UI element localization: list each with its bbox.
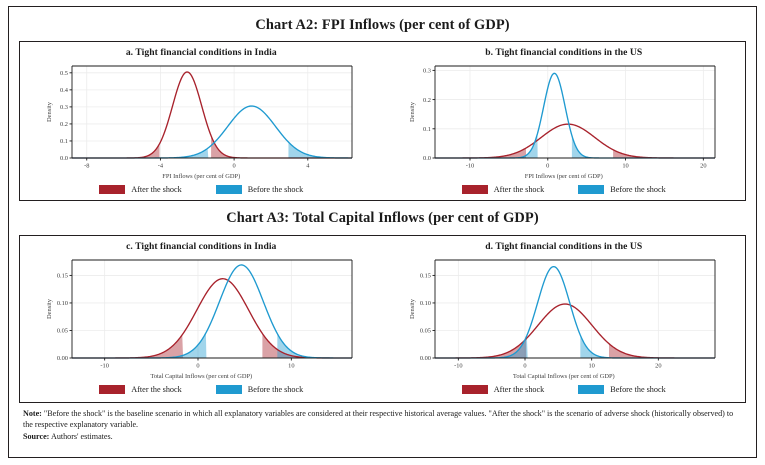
svg-text:0.1: 0.1: [60, 138, 68, 145]
legend-label-after: After the shock: [131, 385, 181, 394]
legend-swatch-after-icon: [462, 185, 488, 194]
legend-swatch-before-icon: [216, 385, 242, 394]
legend-b: After the shock Before the shock: [383, 185, 746, 194]
legend-item-after-c: After the shock: [99, 385, 181, 394]
subplot-d-title: d. Tight financial conditions in the US: [383, 241, 746, 252]
svg-text:0.00: 0.00: [420, 355, 431, 362]
subplot-a: a. Tight financial conditions in India 0…: [20, 42, 383, 200]
panel-chart-a3: c. Tight financial conditions in India 0…: [19, 235, 746, 403]
legend-label-after: After the shock: [131, 185, 181, 194]
svg-text:0: 0: [546, 163, 549, 170]
svg-text:0.05: 0.05: [57, 328, 68, 335]
svg-text:-10: -10: [454, 363, 463, 370]
svg-text:0.1: 0.1: [423, 126, 431, 133]
svg-text:-10: -10: [101, 363, 110, 370]
legend-d: After the shock Before the shock: [383, 385, 746, 394]
legend-item-after-a: After the shock: [99, 185, 181, 194]
svg-text:0.0: 0.0: [423, 155, 431, 162]
svg-text:0.3: 0.3: [60, 104, 68, 111]
note-label: Note:: [23, 409, 42, 418]
plot-area-a: 0.00.10.20.30.40.5-8-404Density: [42, 60, 360, 172]
legend-label-after: After the shock: [494, 185, 544, 194]
notes-block: Note: "Before the shock" is the baseline…: [23, 408, 744, 442]
svg-text:10: 10: [622, 163, 628, 170]
svg-text:0: 0: [197, 363, 200, 370]
source-text: Authors' estimates.: [51, 432, 113, 441]
source-label: Source:: [23, 432, 49, 441]
svg-text:20: 20: [700, 163, 706, 170]
svg-text:0.15: 0.15: [420, 273, 431, 280]
svg-text:0.5: 0.5: [60, 70, 68, 77]
svg-text:0.05: 0.05: [420, 328, 431, 335]
subplot-d-xlabel: Total Capital Inflows (per cent of GDP): [383, 373, 746, 380]
subplot-b-title: b. Tight financial conditions in the US: [383, 47, 746, 58]
svg-text:-10: -10: [465, 163, 474, 170]
svg-text:0: 0: [233, 163, 236, 170]
subplot-a-xlabel: FPI Inflows (per cent of GDP): [20, 173, 383, 180]
svg-text:-4: -4: [158, 163, 164, 170]
legend-label-before: Before the shock: [248, 185, 303, 194]
legend-label-before: Before the shock: [610, 185, 665, 194]
legend-label-before: Before the shock: [610, 385, 665, 394]
legend-swatch-after-icon: [462, 385, 488, 394]
subplot-b-xlabel: FPI Inflows (per cent of GDP): [383, 173, 746, 180]
legend-swatch-before-icon: [216, 185, 242, 194]
svg-text:0.00: 0.00: [57, 355, 68, 362]
svg-text:Density: Density: [46, 298, 53, 319]
document-page: Chart A2: FPI Inflows (per cent of GDP) …: [0, 0, 765, 465]
svg-text:10: 10: [288, 363, 294, 370]
subplot-d: d. Tight financial conditions in the US …: [383, 236, 746, 402]
legend-swatch-after-icon: [99, 185, 125, 194]
legend-item-before-b: Before the shock: [578, 185, 665, 194]
legend-item-before-c: Before the shock: [216, 385, 303, 394]
svg-text:0.2: 0.2: [423, 97, 431, 104]
note-text: "Before the shock" is the baseline scena…: [23, 409, 733, 429]
section-title-a2: Chart A2: FPI Inflows (per cent of GDP): [9, 17, 756, 34]
svg-text:0.3: 0.3: [423, 68, 431, 75]
svg-text:Density: Density: [46, 101, 53, 122]
svg-text:0.10: 0.10: [57, 300, 68, 307]
svg-text:0.10: 0.10: [420, 300, 431, 307]
panel-chart-a2: a. Tight financial conditions in India 0…: [19, 41, 746, 201]
legend-label-after: After the shock: [494, 385, 544, 394]
subplot-c-xlabel: Total Capital Inflows (per cent of GDP): [20, 373, 383, 380]
svg-text:Density: Density: [409, 101, 416, 122]
plot-area-b: 0.00.10.20.3-1001020Density: [405, 60, 723, 172]
legend-item-after-d: After the shock: [462, 385, 544, 394]
svg-text:0.4: 0.4: [60, 87, 69, 94]
subplot-b: b. Tight financial conditions in the US …: [383, 42, 746, 200]
legend-item-before-a: Before the shock: [216, 185, 303, 194]
section-title-a3: Chart A3: Total Capital Inflows (per cen…: [9, 210, 756, 227]
svg-text:-8: -8: [84, 163, 89, 170]
plot-area-d: 0.000.050.100.15-1001020Density: [405, 254, 723, 372]
subplot-a-title: a. Tight financial conditions in India: [20, 47, 383, 58]
outer-frame: Chart A2: FPI Inflows (per cent of GDP) …: [8, 6, 757, 458]
svg-text:0.0: 0.0: [60, 155, 68, 162]
legend-item-before-d: Before the shock: [578, 385, 665, 394]
svg-text:20: 20: [655, 363, 661, 370]
legend-swatch-before-icon: [578, 385, 604, 394]
legend-swatch-before-icon: [578, 185, 604, 194]
svg-text:Density: Density: [409, 298, 416, 319]
svg-text:10: 10: [588, 363, 594, 370]
legend-label-before: Before the shock: [248, 385, 303, 394]
svg-text:4: 4: [306, 163, 310, 170]
subplot-c: c. Tight financial conditions in India 0…: [20, 236, 383, 402]
svg-text:0.15: 0.15: [57, 273, 68, 280]
svg-text:0: 0: [523, 363, 526, 370]
svg-text:0.2: 0.2: [60, 121, 68, 128]
legend-a: After the shock Before the shock: [20, 185, 383, 194]
plot-area-c: 0.000.050.100.15-10010Density: [42, 254, 360, 372]
legend-swatch-after-icon: [99, 385, 125, 394]
legend-item-after-b: After the shock: [462, 185, 544, 194]
legend-c: After the shock Before the shock: [20, 385, 383, 394]
subplot-c-title: c. Tight financial conditions in India: [20, 241, 383, 252]
